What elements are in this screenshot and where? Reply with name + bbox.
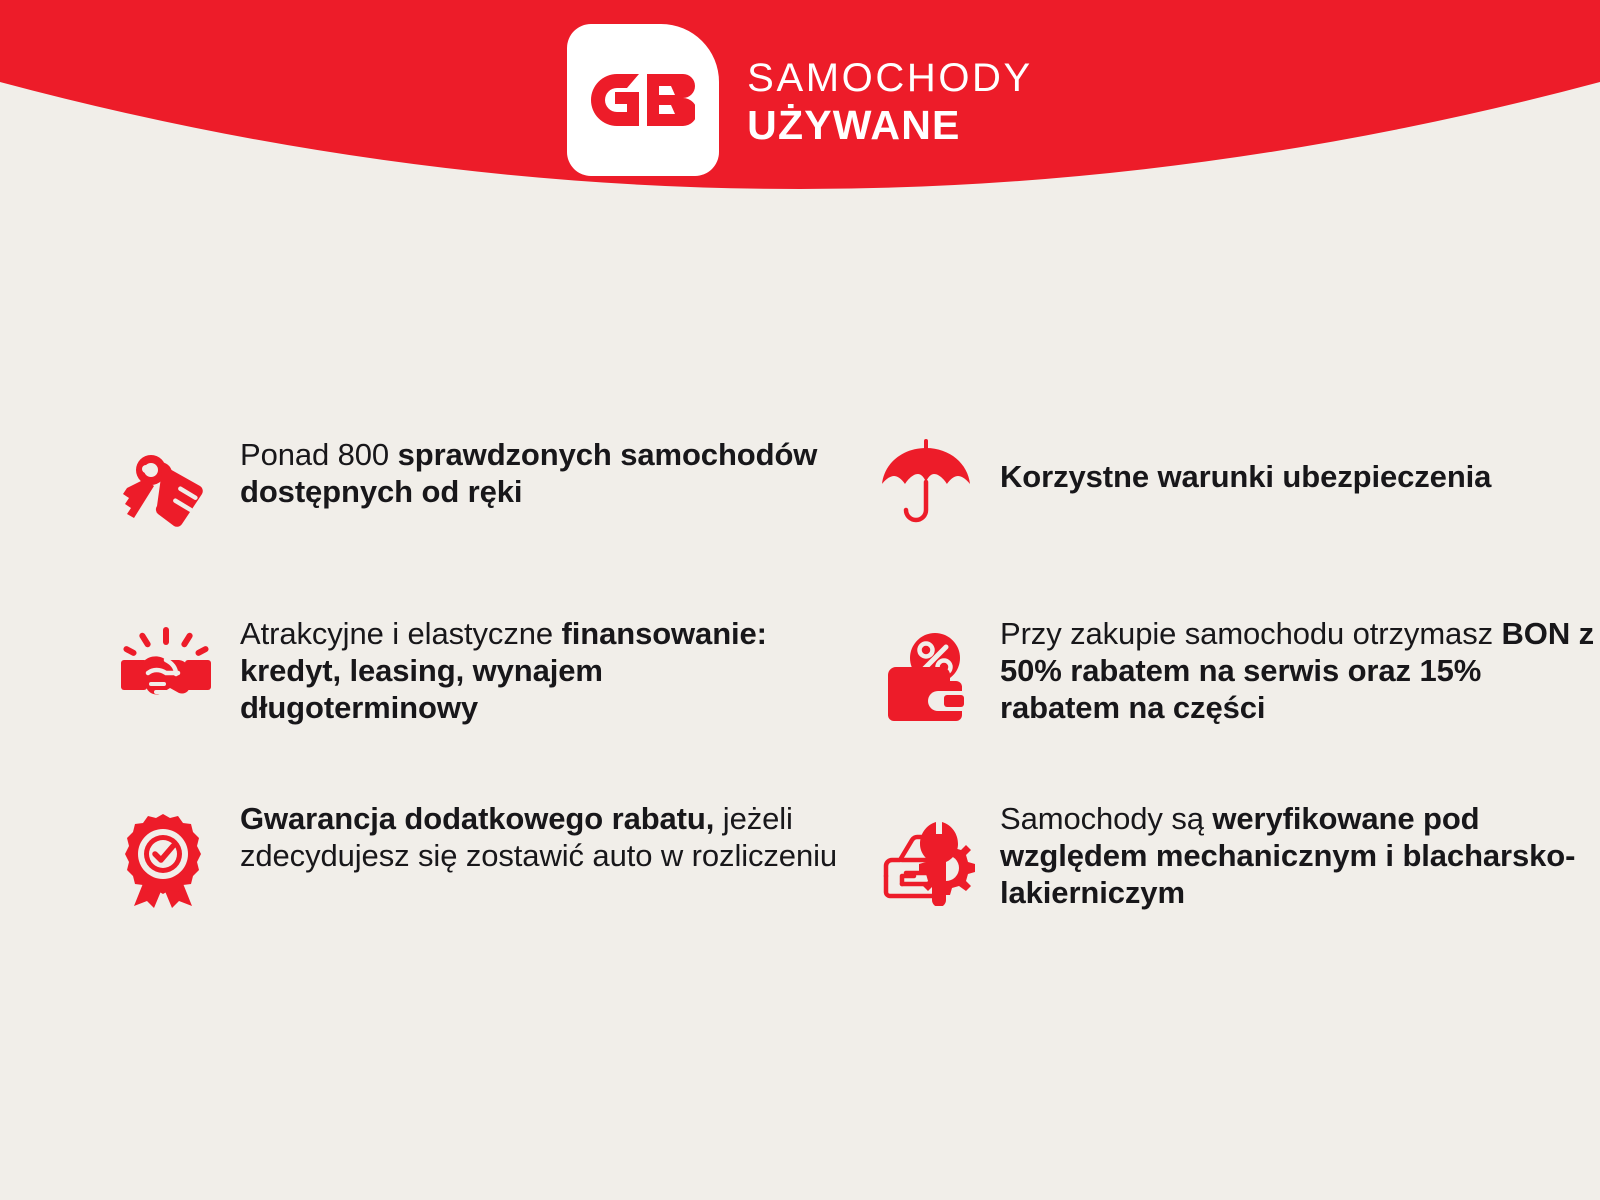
feature-text: Ponad 800 sprawdzonych samochodów dostęp… xyxy=(240,430,840,510)
feature-item-financing: Atrakcyjne i elastyczne finansowanie: kr… xyxy=(120,615,840,800)
handshake-icon xyxy=(120,615,240,707)
feature-text-segment: Przy zakupie samochodu otrzymasz xyxy=(1000,616,1502,651)
feature-text-segment: Ponad 800 xyxy=(240,437,398,472)
feature-item-vehicle-inspection: Samochody są weryfikowane pod względem m… xyxy=(880,800,1600,985)
header-banner: SAMOCHODY UŻYWANE xyxy=(0,0,1600,260)
feature-text: Gwarancja dodatkowego rabatu, jeżeli zde… xyxy=(240,800,840,874)
car-key-tag-icon xyxy=(120,430,240,528)
gb-initials-mark xyxy=(591,74,695,126)
umbrella-icon xyxy=(880,430,1000,528)
brand-line-uzywane: UŻYWANE xyxy=(747,105,1033,146)
feature-text-segment: Gwarancja dodatkowego rabatu, xyxy=(240,801,723,836)
feature-text-segment: Atrakcyjne i elastyczne xyxy=(240,616,562,651)
feature-text: Samochody są weryfikowane pod względem m… xyxy=(1000,800,1600,911)
car-wrench-gear-icon xyxy=(880,800,1000,906)
brand-wordmark: SAMOCHODY UŻYWANE xyxy=(747,54,1033,146)
feature-item-insurance: Korzystne warunki ubezpieczenia xyxy=(880,430,1600,615)
features-column-right: Korzystne warunki ubezpieczenia xyxy=(880,430,1600,985)
feature-item-trade-in-guarantee: Gwarancja dodatkowego rabatu, jeżeli zde… xyxy=(120,800,840,985)
feature-item-service-voucher: Przy zakupie samochodu otrzymasz BON z 5… xyxy=(880,615,1600,800)
feature-text: Przy zakupie samochodu otrzymasz BON z 5… xyxy=(1000,615,1600,726)
feature-text-segment: Samochody są xyxy=(1000,801,1212,836)
feature-text: Atrakcyjne i elastyczne finansowanie: kr… xyxy=(240,615,840,726)
wallet-percent-icon xyxy=(880,615,1000,725)
features-grid: Ponad 800 sprawdzonych samochodów dostęp… xyxy=(0,430,1600,985)
award-badge-check-icon xyxy=(120,800,240,908)
gb-logo-icon xyxy=(567,24,719,176)
feature-item-cars-available: Ponad 800 sprawdzonych samochodów dostęp… xyxy=(120,430,840,615)
brand-lockup: SAMOCHODY UŻYWANE xyxy=(0,0,1600,200)
feature-text: Korzystne warunki ubezpieczenia xyxy=(1000,430,1600,495)
feature-text-segment: Korzystne warunki ubezpieczenia xyxy=(1000,459,1491,494)
brand-line-samochody: SAMOCHODY xyxy=(747,58,1033,98)
features-column-left: Ponad 800 sprawdzonych samochodów dostęp… xyxy=(120,430,840,985)
